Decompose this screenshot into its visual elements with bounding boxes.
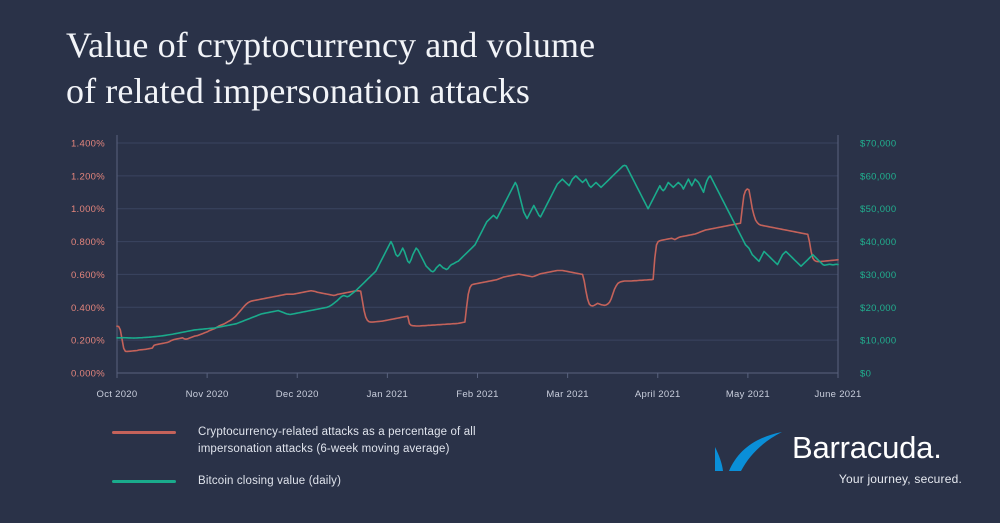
y-axis-left-tick-label: 0.000% bbox=[71, 369, 105, 380]
y-axis-left-tick-label: 1.000% bbox=[71, 204, 105, 215]
series-line-bitcoin bbox=[117, 165, 838, 338]
brand-tagline: Your journey, secured. bbox=[839, 472, 962, 486]
legend-label-attacks: Cryptocurrency-related attacks as a perc… bbox=[198, 424, 476, 457]
y-axis-left-tick-label: 1.400% bbox=[71, 139, 105, 150]
y-axis-right-tick-label: $10,000 bbox=[860, 336, 896, 347]
x-axis-tick-label: Nov 2020 bbox=[186, 389, 229, 400]
x-axis-tick-label: May 2021 bbox=[726, 389, 770, 400]
legend-item-bitcoin: Bitcoin closing value (daily) bbox=[112, 473, 582, 490]
brand-name: Barracuda. bbox=[792, 430, 942, 466]
y-axis-left-tick-label: 0.800% bbox=[71, 237, 105, 248]
x-axis-tick-label: Mar 2021 bbox=[546, 389, 589, 400]
legend-swatch-attacks bbox=[112, 431, 176, 434]
x-axis-tick-label: Dec 2020 bbox=[276, 389, 319, 400]
y-axis-right-tick-label: $60,000 bbox=[860, 171, 896, 182]
y-axis-right-tick-label: $40,000 bbox=[860, 237, 896, 248]
y-axis-right-tick-label: $70,000 bbox=[860, 139, 896, 150]
legend-label-bitcoin: Bitcoin closing value (daily) bbox=[198, 473, 341, 490]
x-axis-tick-label: Oct 2020 bbox=[97, 389, 138, 400]
brand-lockup: Barracuda. Your journey, secured. bbox=[706, 424, 966, 496]
x-axis-tick-label: April 2021 bbox=[635, 389, 681, 400]
legend-swatch-bitcoin bbox=[112, 480, 176, 483]
y-axis-right-tick-label: $30,000 bbox=[860, 270, 896, 281]
y-axis-left-tick-label: 0.400% bbox=[71, 303, 105, 314]
x-axis-tick-label: Jan 2021 bbox=[367, 389, 409, 400]
legend-item-attacks: Cryptocurrency-related attacks as a perc… bbox=[112, 424, 582, 457]
y-axis-left-tick-label: 1.200% bbox=[71, 171, 105, 182]
x-axis-tick-label: Feb 2021 bbox=[456, 389, 499, 400]
infographic-root: Value of cryptocurrency and volume of re… bbox=[0, 0, 1000, 523]
x-axis-tick-label: June 2021 bbox=[814, 389, 861, 400]
y-axis-left-tick-label: 0.200% bbox=[71, 336, 105, 347]
y-axis-left-tick-label: 0.600% bbox=[71, 270, 105, 281]
y-axis-right-tick-label: $20,000 bbox=[860, 303, 896, 314]
chart-legend: Cryptocurrency-related attacks as a perc… bbox=[112, 424, 582, 506]
barracuda-fin-logo-icon bbox=[712, 430, 786, 474]
y-axis-right-tick-label: $50,000 bbox=[860, 204, 896, 215]
y-axis-right-tick-label: $0 bbox=[860, 369, 871, 380]
